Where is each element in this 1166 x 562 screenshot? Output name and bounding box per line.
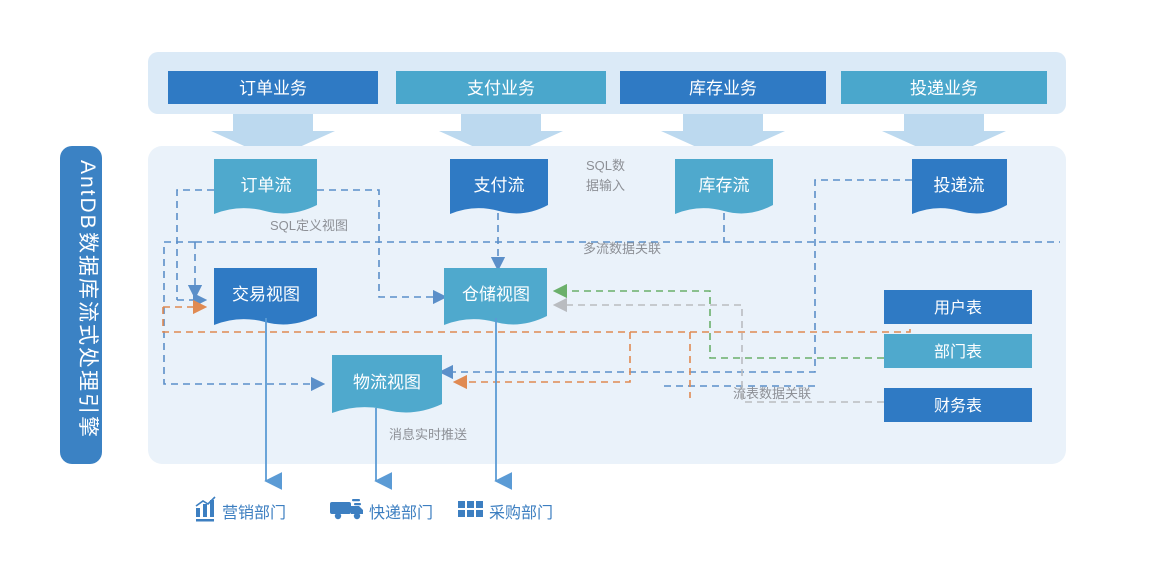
table-label: 部门表 [934, 343, 982, 361]
view-label: 物流视图 [353, 373, 421, 392]
business-box-label: 订单业务 [239, 79, 307, 98]
department-label: 快递部门 [369, 504, 433, 522]
sidebar-subtitle: 数据库流式处理引擎 [76, 232, 99, 439]
stream-order[interactable]: 订单流 [214, 159, 317, 214]
stream-label: 投递流 [934, 176, 985, 195]
department-label: 采购部门 [489, 504, 553, 522]
diagram-canvas: 订单业务 支付业务 库存业务 投递业务 AntDB 数据库流式处理引擎 [0, 0, 1166, 562]
stream-delivery[interactable]: 投递流 [912, 159, 1007, 214]
business-box-2[interactable]: 库存业务 [620, 71, 826, 104]
table-label: 财务表 [934, 397, 982, 415]
view-warehouse[interactable]: 仓储视图 [444, 268, 547, 325]
business-box-label: 库存业务 [689, 79, 757, 98]
annotation-sql-input-line2: 据输入 [586, 178, 625, 193]
stream-label: 库存流 [699, 176, 750, 195]
view-label: 仓储视图 [462, 285, 530, 304]
table-finance[interactable]: 财务表 [884, 388, 1032, 422]
dimension-tables: 用户表 部门表 财务表 [884, 290, 1032, 422]
antdb-stream-architecture-diagram: 订单业务 支付业务 库存业务 投递业务 AntDB 数据库流式处理引擎 [0, 0, 1166, 562]
view-label: 交易视图 [232, 285, 300, 304]
annotation-stream-table-join: 流表数据关联 [733, 386, 811, 401]
view-trade[interactable]: 交易视图 [214, 268, 317, 325]
business-box-label: 支付业务 [467, 79, 535, 98]
annotation-sql-defined-view: SQL定义视图 [270, 218, 348, 233]
table-department[interactable]: 部门表 [884, 334, 1032, 368]
table-user[interactable]: 用户表 [884, 290, 1032, 324]
business-box-0[interactable]: 订单业务 [168, 71, 378, 104]
business-box-1[interactable]: 支付业务 [396, 71, 606, 104]
stream-label: 支付流 [474, 176, 525, 195]
department-label: 营销部门 [222, 504, 286, 522]
sidebar-brand: AntDB [76, 160, 99, 231]
annotation-sql-input-line1: SQL数 [586, 158, 625, 173]
annotation-realtime-push: 消息实时推送 [389, 427, 467, 442]
table-label: 用户表 [934, 299, 982, 317]
business-box-3[interactable]: 投递业务 [841, 71, 1047, 104]
stream-label: 订单流 [241, 176, 292, 195]
stream-inventory[interactable]: 库存流 [675, 159, 773, 214]
view-logistics[interactable]: 物流视图 [332, 355, 442, 413]
annotation-multistream-join: 多流数据关联 [583, 241, 661, 256]
business-box-label: 投递业务 [910, 79, 978, 98]
stream-payment[interactable]: 支付流 [450, 159, 548, 214]
